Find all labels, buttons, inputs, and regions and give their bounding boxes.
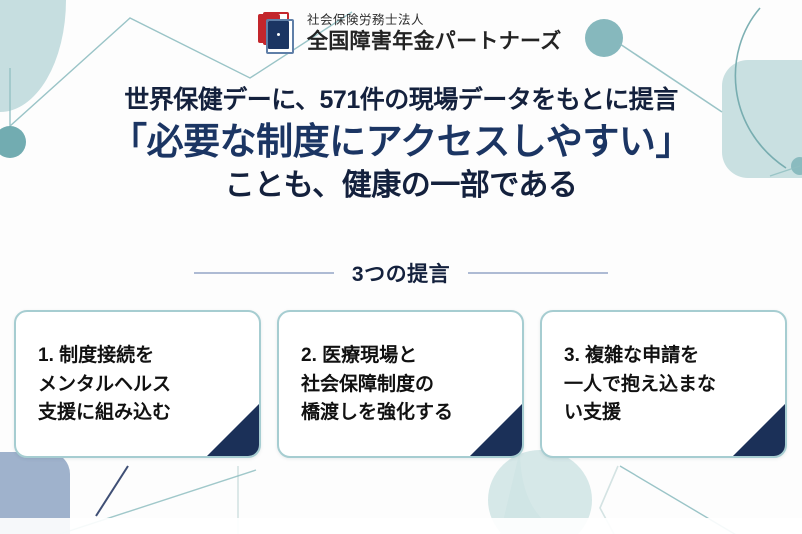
stacked-cards-logo-icon: [258, 12, 298, 54]
proposal-card-2-line-3: 橋渡しを強化する: [301, 399, 522, 428]
headline-block: 世界保健デーに、571件の現場データをもとに提言 「必要な制度にアクセスしやすい…: [0, 86, 802, 205]
proposal-card-2-text: 2. 医療現場と 社会保障制度の 橋渡しを強化する: [279, 312, 522, 428]
proposal-card-1-line-1: 1. 制度接続を: [38, 342, 259, 371]
brand-logo-text: 社会保険労務士法人 全国障害年金パートナーズ: [307, 14, 562, 52]
proposal-card-2: 2. 医療現場と 社会保障制度の 橋渡しを強化する: [277, 310, 524, 458]
section-divider: 3つの提言: [0, 258, 802, 288]
brand-subtitle: 社会保険労務士法人: [307, 14, 562, 27]
shape-bottom-band: [0, 518, 802, 534]
brand-logo: 社会保険労務士法人 全国障害年金パートナーズ: [258, 12, 562, 54]
proposal-card-3-line-1: 3. 複雑な申請を: [564, 342, 785, 371]
proposal-card-3-text: 3. 複雑な申請を 一人で抱え込まな い支援: [542, 312, 785, 428]
proposal-card-1-text: 1. 制度接続を メンタルヘルス 支援に組み込む: [16, 312, 259, 428]
proposal-card-3: 3. 複雑な申請を 一人で抱え込まな い支援: [540, 310, 787, 458]
poster-canvas: 社会保険労務士法人 全国障害年金パートナーズ 世界保健デーに、571件の現場デー…: [0, 0, 802, 534]
brand-name: 全国障害年金パートナーズ: [307, 31, 562, 52]
divider-label: 3つの提言: [352, 258, 450, 288]
shape-line-bottomleft: [96, 466, 128, 516]
divider-rule-left: [194, 272, 334, 274]
divider-rule-right: [468, 272, 608, 274]
proposal-card-3-line-3: い支援: [564, 399, 785, 428]
proposal-card-3-line-2: 一人で抱え込まな: [564, 371, 785, 400]
proposal-card-2-line-1: 2. 医療現場と: [301, 342, 522, 371]
proposal-card-1: 1. 制度接続を メンタルヘルス 支援に組み込む: [14, 310, 261, 458]
logo-dot: [277, 33, 280, 36]
proposal-card-2-line-2: 社会保障制度の: [301, 371, 522, 400]
headline-line-2: 「必要な制度にアクセスしやすい」: [0, 119, 802, 165]
headline-line-3: ことも、健康の一部である: [0, 167, 802, 205]
proposal-card-1-line-2: メンタルヘルス: [38, 371, 259, 400]
proposal-card-list: 1. 制度接続を メンタルヘルス 支援に組み込む 2. 医療現場と 社会保障制度…: [14, 310, 788, 458]
shape-node-right: [585, 19, 623, 57]
proposal-card-1-line-3: 支援に組み込む: [38, 399, 259, 428]
headline-line-1: 世界保健デーに、571件の現場データをもとに提言: [0, 86, 802, 115]
